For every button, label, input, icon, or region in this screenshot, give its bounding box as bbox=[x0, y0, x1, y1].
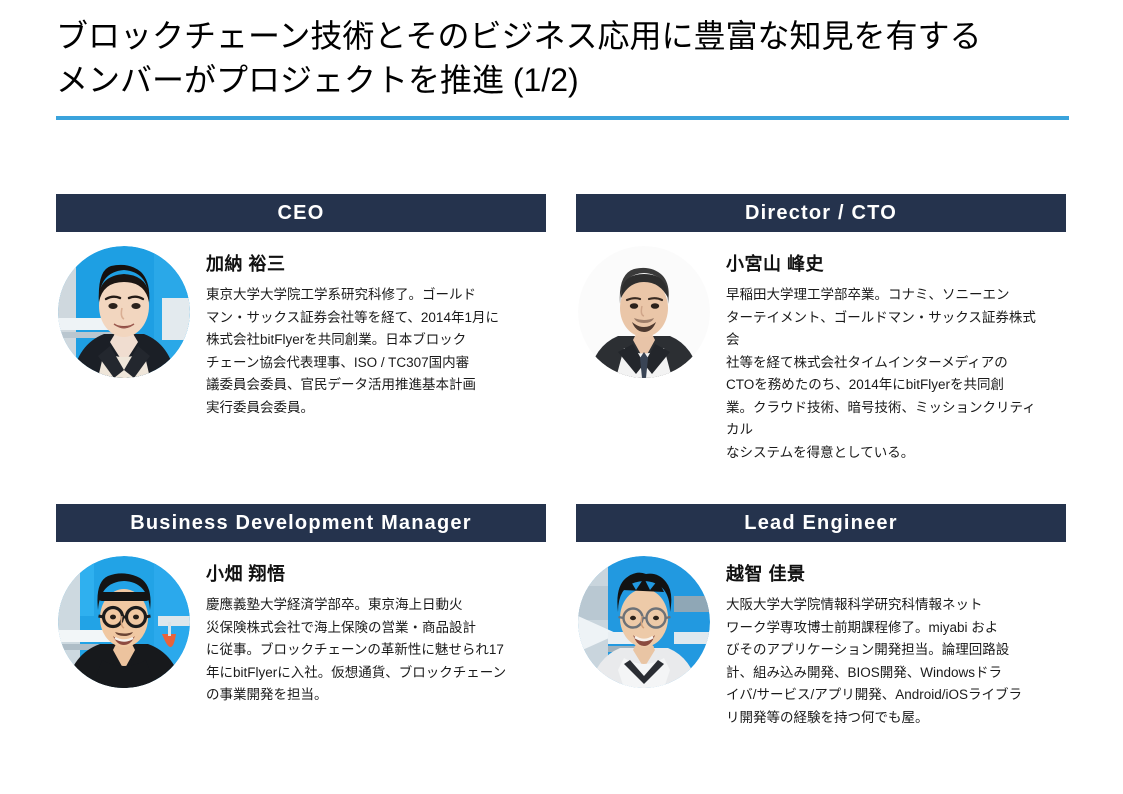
member-bio: 大阪大学大学院情報科学研究科情報ネット ワーク学専攻博士前期課程修了。miyab… bbox=[726, 594, 1048, 729]
member-body: 加納 裕三 東京大学大学院工学系研究科修了。ゴールド マン・サックス証券会社等を… bbox=[56, 246, 546, 419]
member-body: 小宮山 峰史 早稲田大学理工学部卒業。コナミ、ソニーエン ターテイメント、ゴール… bbox=[576, 246, 1066, 464]
avatar-photo-obata bbox=[58, 556, 190, 688]
role-banner-lead-engineer: Lead Engineer bbox=[576, 504, 1066, 542]
member-body: 小畑 翔悟 慶應義塾大学経済学部卒。東京海上日動火 災保険株式会社で海上保険の営… bbox=[56, 556, 546, 707]
member-card-business-development-manager: Business Development Manager bbox=[56, 504, 546, 707]
member-bio: 東京大学大学院工学系研究科修了。ゴールド マン・サックス証券会社等を経て、201… bbox=[206, 284, 531, 419]
member-body: 越智 佳景 大阪大学大学院情報科学研究科情報ネット ワーク学専攻博士前期課程修了… bbox=[576, 556, 1066, 729]
member-card-lead-engineer: Lead Engineer bbox=[576, 504, 1066, 729]
role-banner-business-development-manager: Business Development Manager bbox=[56, 504, 546, 542]
member-info: 小畑 翔悟 慶應義塾大学経済学部卒。東京海上日動火 災保険株式会社で海上保険の営… bbox=[206, 556, 531, 707]
avatar-photo-komiyama bbox=[578, 246, 710, 378]
role-banner-director-cto: Director / CTO bbox=[576, 194, 1066, 232]
role-banner-ceo: CEO bbox=[56, 194, 546, 232]
member-bio: 早稲田大学理工学部卒業。コナミ、ソニーエン ターテイメント、ゴールドマン・サック… bbox=[726, 284, 1048, 464]
member-info: 小宮山 峰史 早稲田大学理工学部卒業。コナミ、ソニーエン ターテイメント、ゴール… bbox=[726, 246, 1048, 464]
member-info: 越智 佳景 大阪大学大学院情報科学研究科情報ネット ワーク学専攻博士前期課程修了… bbox=[726, 556, 1048, 729]
member-name: 小宮山 峰史 bbox=[726, 250, 1048, 276]
title-underline-rule bbox=[56, 116, 1069, 120]
page-title: ブロックチェーン技術とそのビジネス応用に豊富な知見を有する メンバーがプロジェク… bbox=[56, 14, 1056, 102]
member-name: 加納 裕三 bbox=[206, 250, 531, 276]
avatar-photo-kano bbox=[58, 246, 190, 378]
member-bio: 慶應義塾大学経済学部卒。東京海上日動火 災保険株式会社で海上保険の営業・商品設計… bbox=[206, 594, 531, 707]
member-card-director-cto: Director / CTO bbox=[576, 194, 1066, 464]
avatar-photo-ochi bbox=[578, 556, 710, 688]
member-info: 加納 裕三 東京大学大学院工学系研究科修了。ゴールド マン・サックス証券会社等を… bbox=[206, 246, 531, 419]
member-name: 小畑 翔悟 bbox=[206, 560, 531, 586]
member-card-ceo: CEO bbox=[56, 194, 546, 419]
member-name: 越智 佳景 bbox=[726, 560, 1048, 586]
